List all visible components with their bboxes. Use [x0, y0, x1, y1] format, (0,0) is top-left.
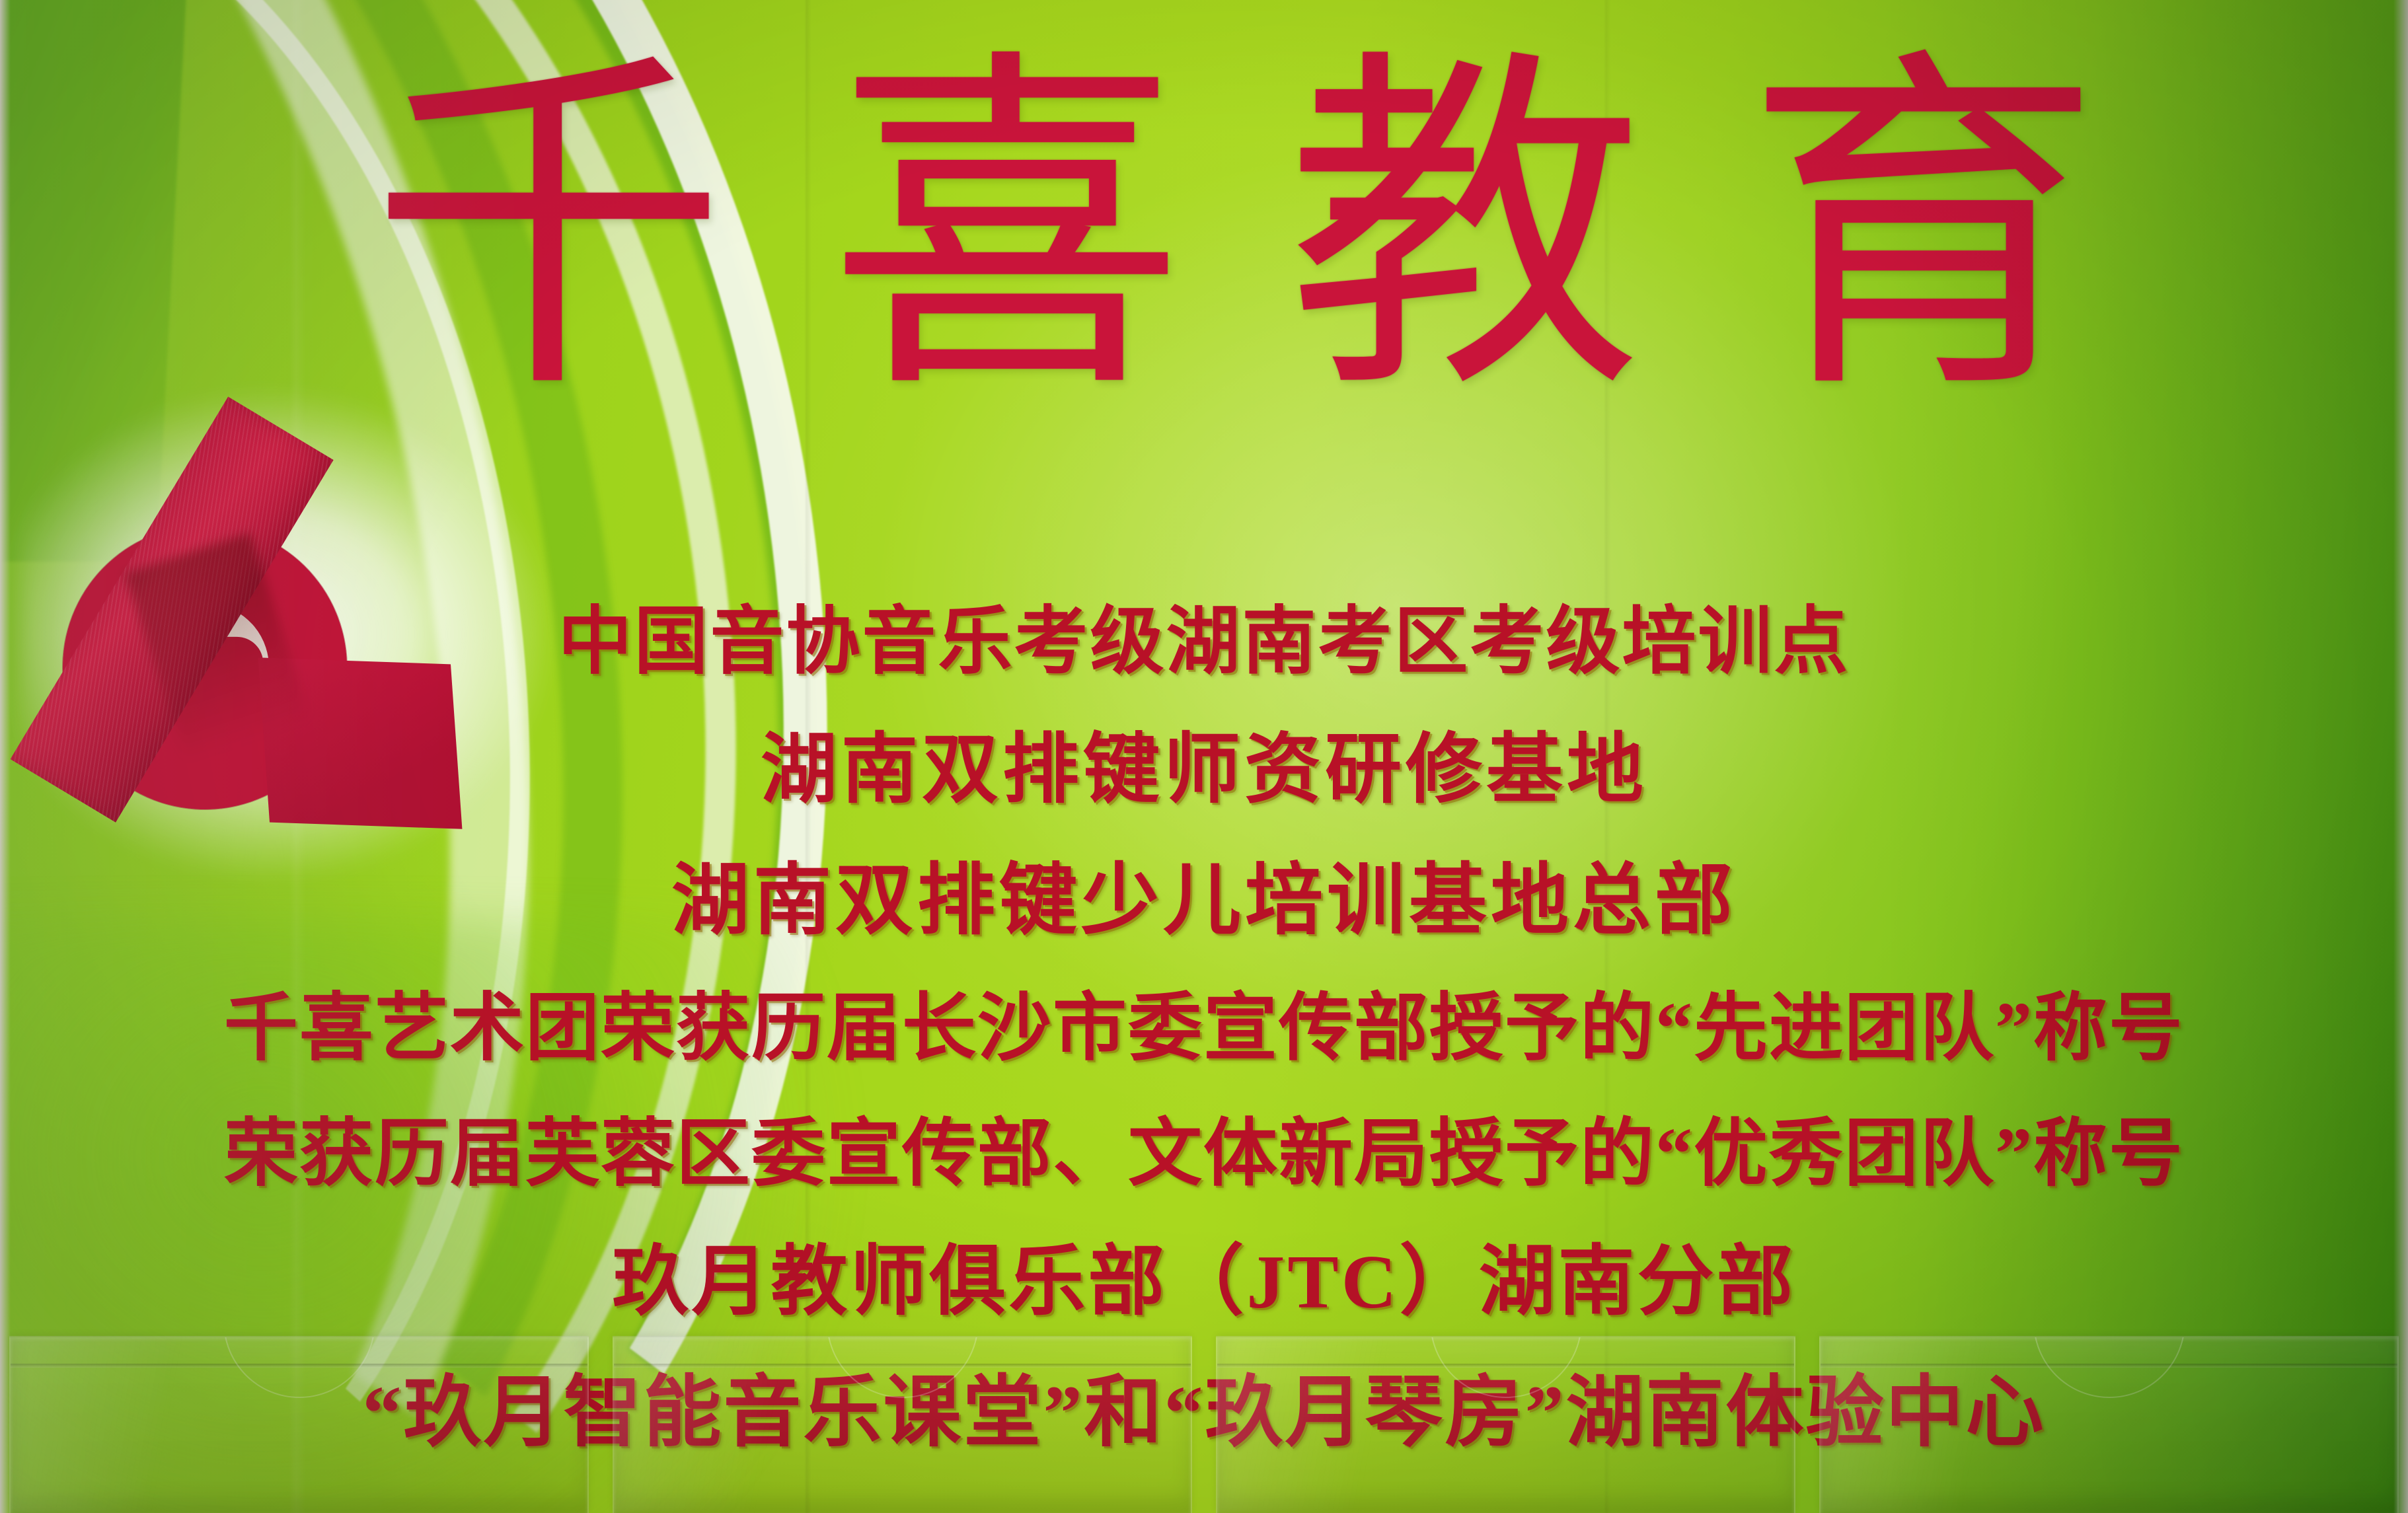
leaflet-holder-row	[0, 1320, 2408, 1513]
leaflet-holder[interactable]	[9, 1336, 589, 1513]
wall-edge-right	[2393, 0, 2408, 1513]
acrylic-sheen	[1216, 1337, 1460, 1513]
acrylic-sheen	[9, 1337, 253, 1513]
signboard-photo: 千 喜 教 育 中国音协音乐考级湖南考区考级培训点 湖南双排键师资研修基地 湖南…	[0, 0, 2408, 1513]
wall-edge-left	[0, 0, 11, 1513]
leaflet-holder[interactable]	[1819, 1336, 2399, 1513]
acrylic-sheen	[1819, 1337, 2063, 1513]
red-ribbon-logo	[46, 396, 548, 872]
leaflet-holder[interactable]	[1216, 1336, 1795, 1513]
acrylic-sheen	[613, 1337, 856, 1513]
leaflet-holder[interactable]	[613, 1336, 1192, 1513]
